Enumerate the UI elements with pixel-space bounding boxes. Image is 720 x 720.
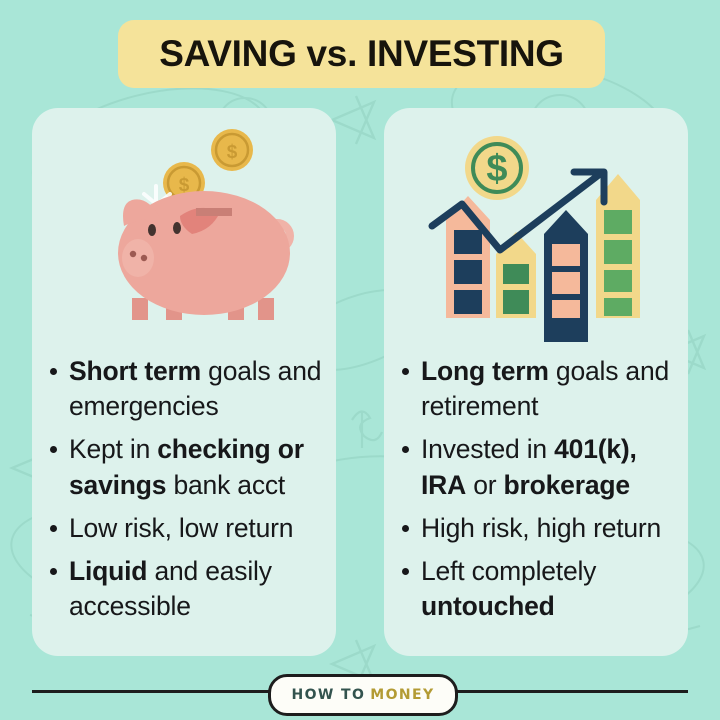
list-item: Low risk, low return	[42, 511, 332, 546]
list-item: Invested in 401(k), IRA or brokerage	[394, 432, 684, 502]
title-banner: SAVING vs. INVESTING	[118, 20, 605, 88]
investing-card: $	[384, 108, 688, 656]
growth-chart-buildings-with-dollar-coin-illustration: $	[384, 108, 688, 348]
bar-building-3	[544, 210, 588, 342]
how-to-money-logo[interactable]: HOW TO MONEY	[268, 674, 458, 716]
infographic-poster: SAVING vs. INVESTING $ $ $	[0, 0, 720, 720]
saving-bullet-list: Short term goals and emergencies Kept in…	[42, 354, 332, 633]
investing-bullet-list: Long term goals and retirement Invested …	[394, 354, 684, 633]
coin-icon-top-right: $	[211, 129, 253, 171]
logo-word-how-to: HOW TO	[291, 687, 365, 703]
piggy-bank-icon	[118, 191, 290, 320]
list-item: High risk, high return	[394, 511, 684, 546]
svg-text:$: $	[227, 142, 238, 163]
list-item: Left completely untouched	[394, 554, 684, 624]
list-item: Long term goals and retirement	[394, 354, 684, 424]
piggy-bank-with-coins-illustration: $ $ $	[32, 108, 336, 348]
page-title: SAVING vs. INVESTING	[159, 33, 564, 75]
saving-card: $ $ $	[32, 108, 336, 656]
footer: HOW TO MONEY	[0, 672, 720, 720]
list-item: Liquid and easily accessible	[42, 554, 332, 624]
list-item: Short term goals and emergencies	[42, 354, 332, 424]
dollar-coin-icon: $	[465, 136, 529, 200]
logo-word-money: MONEY	[370, 687, 434, 703]
footer-divider-right	[430, 690, 688, 693]
svg-text:$: $	[486, 148, 507, 190]
footer-divider-left	[32, 690, 290, 693]
list-item: Kept in checking or savings bank acct	[42, 432, 332, 502]
